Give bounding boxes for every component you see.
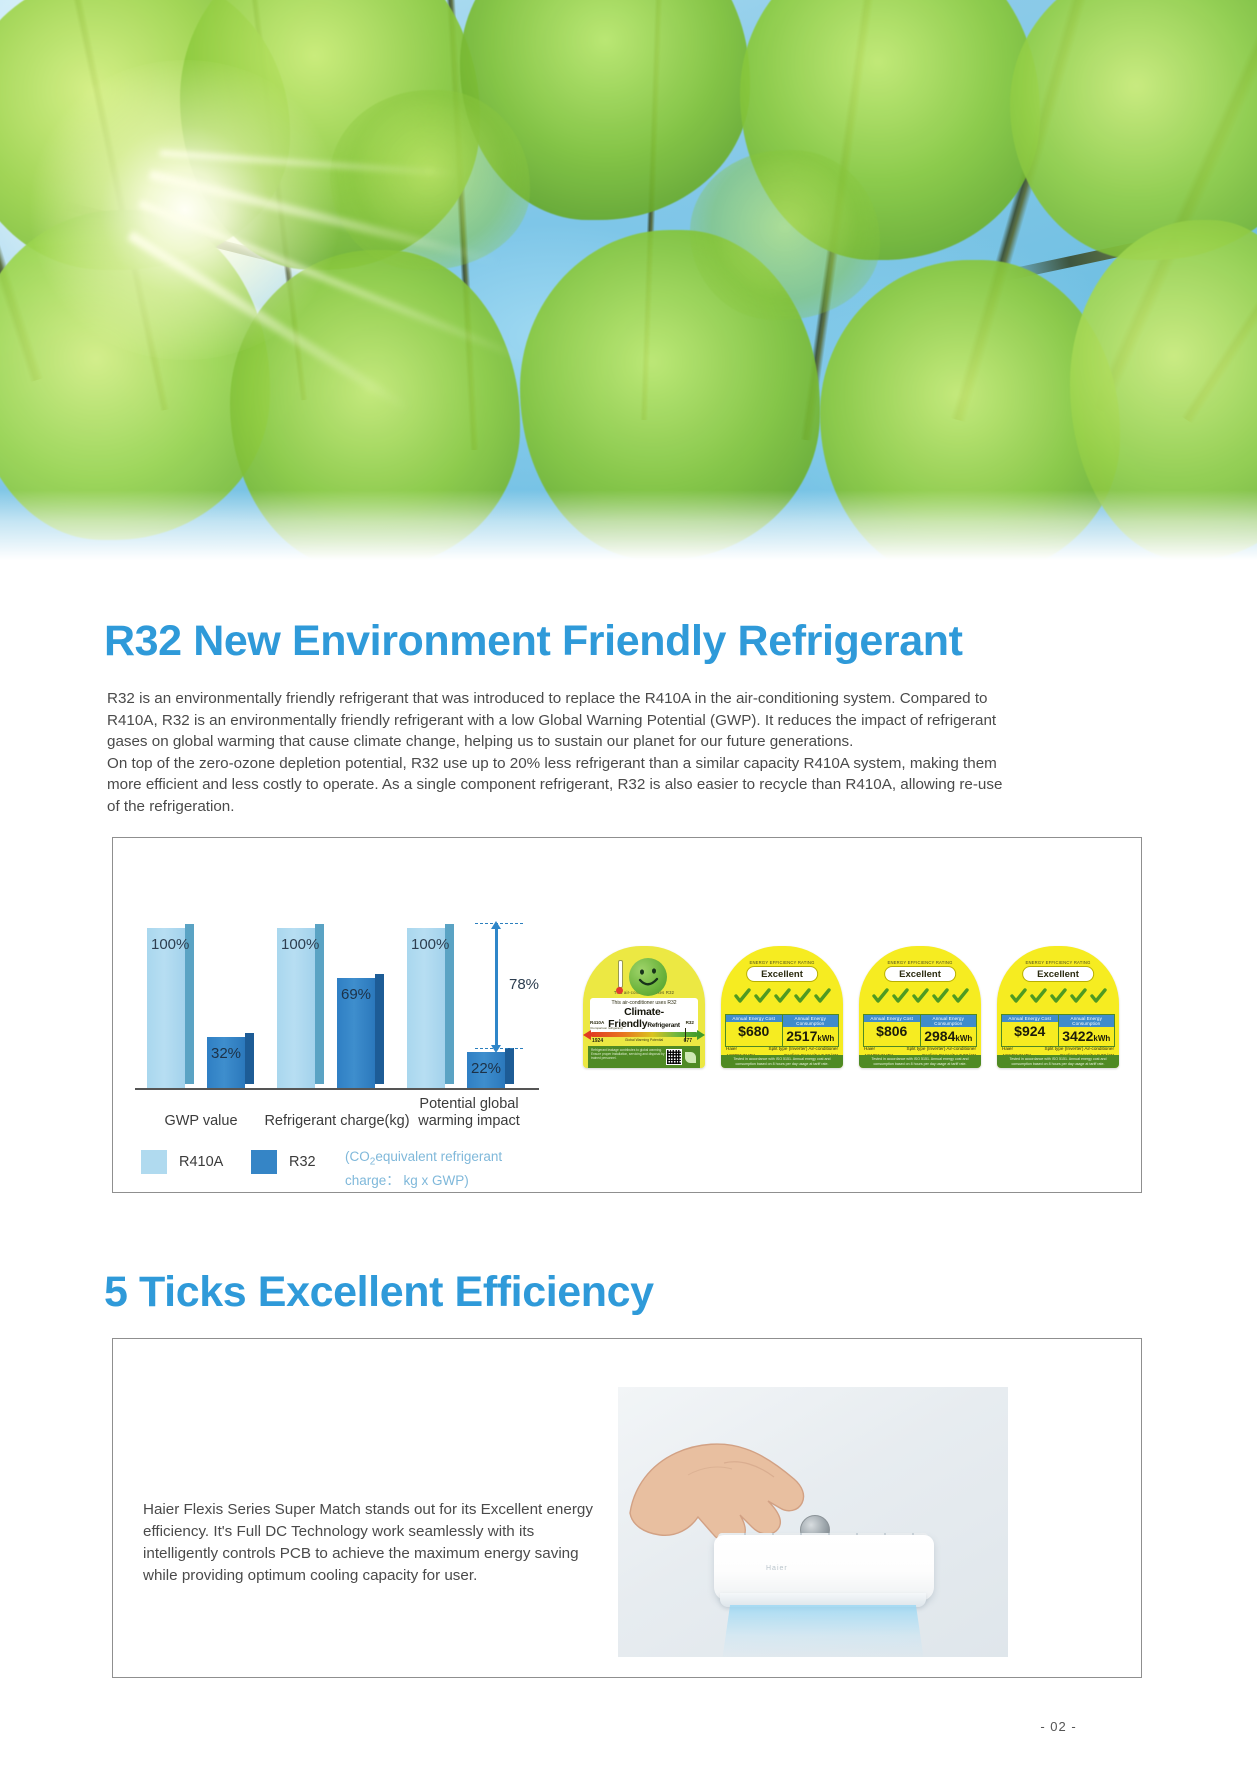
gwp-value-r410a: 1924 [592, 1038, 603, 1044]
legend-swatch-r32 [251, 1150, 277, 1174]
consumption-number: 2517 [786, 1028, 817, 1044]
legend-swatch-r410a [141, 1150, 167, 1174]
annual-consumption-value: 2517kWh [783, 1027, 839, 1046]
annual-cost-value: $806 [864, 1022, 920, 1041]
gwp-scale-left-tag: R410A [590, 1020, 604, 1025]
rating-value-table: Annual Energy Cost $806 Annual Energy Co… [863, 1014, 977, 1047]
bar-front-face: 22% [467, 1052, 505, 1088]
annotation-arrow [495, 928, 498, 1046]
rating-footer-text: Tested in accordance with ISO 5151. Annu… [997, 1055, 1119, 1068]
bar-r32-charge: 69% [337, 978, 375, 1088]
annual-cost-cell: Annual Energy Cost $924 [1002, 1015, 1059, 1046]
rating-meta-row-1: Haier Split type (Inverter) Air-conditio… [864, 1046, 976, 1051]
hero-bottom-fade [0, 490, 1257, 560]
consumption-unit: kWh [955, 1034, 972, 1043]
climate-label-footer-band: Refrigerant leakage contributes to globa… [588, 1046, 700, 1068]
bar-value-label: 100% [151, 936, 189, 953]
rating-value-table: Annual Energy Cost $924 Annual Energy Co… [1001, 1014, 1115, 1047]
rating-badge: Excellent [1022, 966, 1094, 982]
page-title-r32: R32 New Environment Friendly Refrigerant [104, 617, 963, 666]
legend-label-r410a: R410A [179, 1154, 223, 1170]
tick-icon [892, 988, 909, 1005]
bar-r32-impact: 22% [467, 1052, 505, 1088]
energy-rating-label-1: ENERGY EFFICIENCY RATING Excellent Annua… [721, 946, 843, 1068]
rating-badge: Excellent [884, 966, 956, 982]
tick-icon [774, 988, 791, 1005]
legend-label-r32: R32 [289, 1154, 316, 1170]
consumption-number: 3422 [1062, 1028, 1093, 1044]
chart-axis-line [135, 1088, 539, 1090]
bar-value-label: 69% [341, 986, 371, 1003]
tick-row [721, 988, 843, 1005]
annual-consumption-cell: Annual Energy Consumption 2984kWh [921, 1015, 977, 1046]
rating-top-text: ENERGY EFFICIENCY RATING [859, 960, 981, 965]
rating-top-text: ENERGY EFFICIENCY RATING [997, 960, 1119, 965]
smiling-earth-icon [629, 958, 667, 996]
climate-label-footer-text: Refrigerant leakage contributes to globa… [591, 1048, 670, 1061]
page-number: - 02 - [1040, 1719, 1076, 1734]
gwp-scale-left-sub: (Comparison refrigerant) [590, 1026, 623, 1030]
tick-icon [1050, 988, 1067, 1005]
bar-r410a-charge: 100% [277, 928, 315, 1088]
bar-front-face: 100% [147, 928, 185, 1088]
annual-consumption-value: 2984kWh [921, 1027, 977, 1046]
rating-value-table: Annual Energy Cost $680 Annual Energy Co… [725, 1014, 839, 1047]
tick-icon [794, 988, 811, 1005]
qr-code-icon [666, 1049, 682, 1065]
ac-louver [720, 1593, 926, 1607]
category-label-charge: Refrigerant charge(kg) [257, 1113, 417, 1130]
rating-footer-text: Tested in accordance with ISO 5151. Annu… [721, 1055, 843, 1068]
annual-cost-value: $924 [1002, 1022, 1058, 1041]
annual-consumption-header: Annual Energy Consumption [783, 1015, 839, 1027]
product-type: Split type (Inverter) Air-conditioner [907, 1046, 976, 1051]
climate-friendly-label: This air-conditioner uses R32 This air-c… [583, 946, 705, 1068]
hero-forest-image [0, 0, 1257, 560]
tick-icon [1010, 988, 1027, 1005]
annual-consumption-cell: Annual Energy Consumption 3422kWh [1059, 1015, 1115, 1046]
bar-value-label: 100% [411, 936, 449, 953]
bar-side-face [505, 1048, 514, 1084]
tick-icon [734, 988, 751, 1005]
r32-comparison-panel: 100% 32% 100% [112, 837, 1142, 1193]
tick-row [859, 988, 981, 1005]
annual-cost-cell: Annual Energy Cost $680 [726, 1015, 783, 1046]
annual-consumption-header: Annual Energy Consumption [921, 1015, 977, 1027]
bar-value-label: 32% [211, 1045, 241, 1062]
tick-icon [754, 988, 771, 1005]
energy-label-row: This air-conditioner uses R32 This air-c… [583, 946, 1133, 1086]
gwp-scale: R410A (Comparison refrigerant) R32 1924 … [590, 1024, 698, 1044]
gwp-value-r32: 677 [684, 1038, 692, 1044]
bar-side-face [245, 1033, 254, 1084]
rating-meta-row-1: Haier Split type (Inverter) Air-conditio… [1002, 1046, 1114, 1051]
bar-r32-gwp: 32% [207, 1037, 245, 1088]
bar-r410a-impact: 100% [407, 928, 445, 1088]
tick-icon [814, 988, 831, 1005]
rating-footer-text: Tested in accordance with ISO 5151. Annu… [859, 1055, 981, 1068]
bar-front-face: 32% [207, 1037, 245, 1088]
ac-airflow [722, 1605, 924, 1657]
air-conditioner-photo: Haier [618, 1387, 1008, 1657]
thermometer-stem [618, 960, 623, 988]
foliage-cluster [690, 150, 880, 320]
annual-cost-cell: Annual Energy Cost $806 [864, 1015, 921, 1046]
tick-icon [1090, 988, 1107, 1005]
rating-top-text: ENERGY EFFICIENCY RATING [721, 960, 843, 965]
energy-rating-label-3: ENERGY EFFICIENCY RATING Excellent Annua… [997, 946, 1119, 1068]
tick-icon [952, 988, 969, 1005]
tick-icon [1070, 988, 1087, 1005]
consumption-unit: kWh [817, 1034, 834, 1043]
bar-group-gwp: 100% 32% [141, 928, 261, 1088]
ac-body [714, 1535, 934, 1601]
page-footer: - 02 - [0, 1719, 1257, 1734]
annual-cost-header: Annual Energy Cost [864, 1015, 920, 1022]
annual-cost-header: Annual Energy Cost [1002, 1015, 1058, 1022]
product-type: Split type (Inverter) Air-conditioner [1045, 1046, 1114, 1051]
ac-brand-logo: Haier [766, 1565, 788, 1572]
energy-rating-label-2: ENERGY EFFICIENCY RATING Excellent Annua… [859, 946, 981, 1068]
category-label-impact-text: Potential global warming impact [418, 1096, 520, 1129]
legend-note-prefix: (CO [345, 1149, 370, 1164]
category-label-gwp: GWP value [139, 1113, 263, 1130]
efficiency-description: Haier Flexis Series Super Match stands o… [143, 1499, 613, 1587]
leaf-icon [685, 1052, 696, 1063]
r32-paragraph-2: On top of the zero-ozone depletion poten… [107, 753, 1017, 818]
annual-cost-header: Annual Energy Cost [726, 1015, 782, 1022]
product-type: Split type (Inverter) Air-conditioner [769, 1046, 838, 1051]
annual-consumption-cell: Annual Energy Consumption 2517kWh [783, 1015, 839, 1046]
page-title-five-ticks: 5 Ticks Excellent Efficiency [104, 1268, 654, 1317]
tick-icon [1030, 988, 1047, 1005]
tick-icon [912, 988, 929, 1005]
legend-note-line2: charge： kg x GWP) [345, 1173, 469, 1188]
brand-name: Haier [1002, 1046, 1013, 1051]
r32-paragraph-1: R32 is an environmentally friendly refri… [107, 688, 1017, 753]
gwp-scale-right-tag: R32 [686, 1020, 694, 1025]
bar-group-warming-impact: 100% 22% [401, 928, 531, 1088]
legend-note-body: equivalent refrigerant [375, 1149, 502, 1164]
brand-name: Haier [726, 1046, 737, 1051]
comparison-bar-chart: 100% 32% 100% [123, 856, 593, 1176]
annual-cost-value: $680 [726, 1022, 782, 1041]
annual-consumption-value: 3422kWh [1059, 1027, 1115, 1046]
bar-value-label: 100% [281, 936, 319, 953]
bar-r410a-gwp: 100% [147, 928, 185, 1088]
bar-front-face: 100% [277, 928, 315, 1088]
bar-front-face: 69% [337, 978, 375, 1088]
annotation-value-78: 78% [509, 976, 539, 993]
bar-group-refrigerant-charge: 100% 69% [271, 928, 391, 1088]
gwp-gradient-bar [590, 1032, 698, 1037]
consumption-unit: kWh [1093, 1034, 1110, 1043]
tick-icon [872, 988, 889, 1005]
legend-note-co2: (CO2equivalent refrigerant charge： kg x … [345, 1148, 525, 1190]
thermometer-bulb [616, 987, 623, 994]
bar-front-face: 100% [407, 928, 445, 1088]
consumption-number: 2984 [924, 1028, 955, 1044]
annual-consumption-header: Annual Energy Consumption [1059, 1015, 1115, 1027]
smiley-face-icon [629, 958, 667, 996]
tick-row [997, 988, 1119, 1005]
r32-description: R32 is an environmentally friendly refri… [107, 688, 1017, 817]
bar-side-face [375, 974, 384, 1084]
efficiency-panel: Haier Flexis Series Super Match stands o… [112, 1338, 1142, 1678]
gwp-scale-caption: Global Warming Potential [625, 1038, 663, 1042]
rating-badge: Excellent [746, 966, 818, 982]
thermometer-icon [616, 960, 623, 994]
rating-meta-row-1: Haier Split type (Inverter) Air-conditio… [726, 1046, 838, 1051]
bar-value-label: 22% [471, 1060, 501, 1077]
tick-icon [932, 988, 949, 1005]
brand-name: Haier [864, 1046, 875, 1051]
category-label-impact: Potential global warming impact [409, 1096, 529, 1130]
